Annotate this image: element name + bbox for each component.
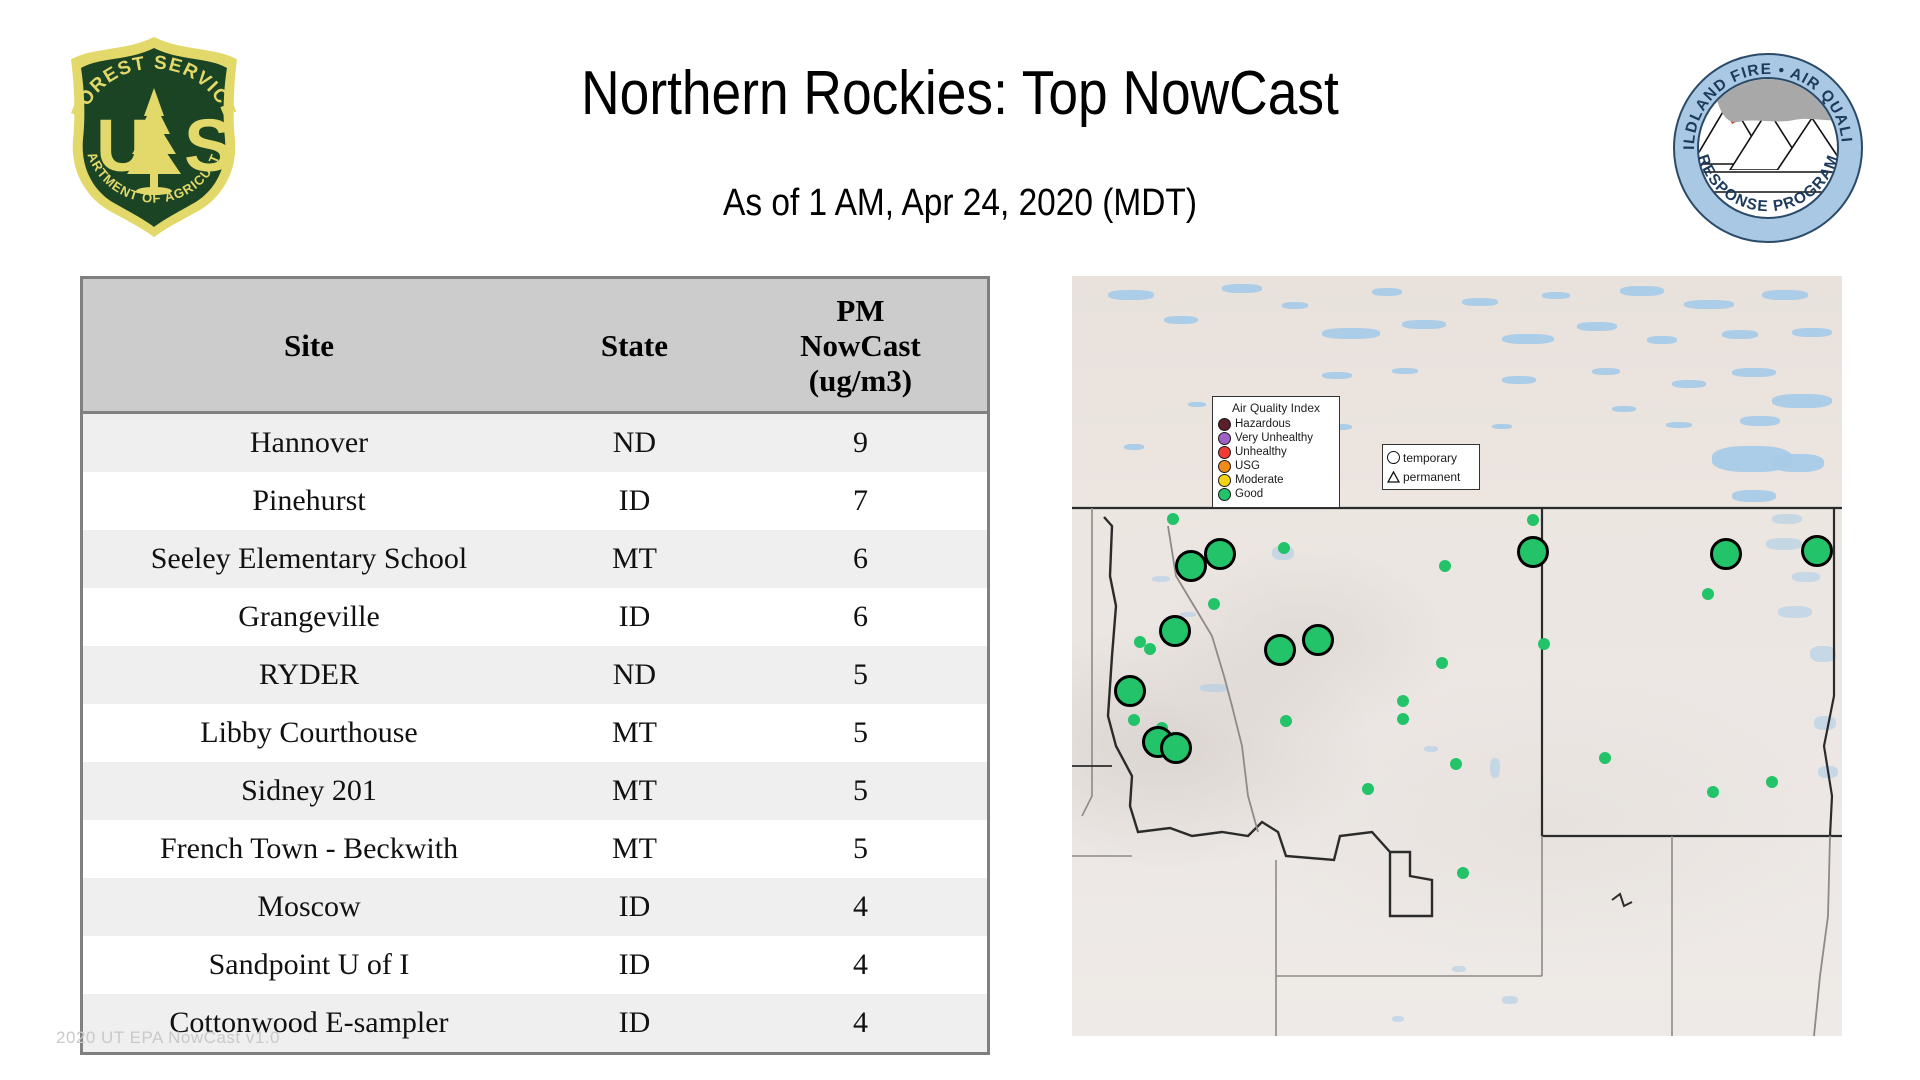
- air-quality-monitor-map[interactable]: [1072, 276, 1842, 1036]
- aqi-legend-label: Good: [1235, 488, 1263, 501]
- map-sensor-marker[interactable]: [1801, 535, 1833, 567]
- cell-site: Moscow: [83, 878, 535, 936]
- map-sensor-marker[interactable]: [1128, 714, 1140, 726]
- map-sensor-marker[interactable]: [1280, 715, 1292, 727]
- cell-state: MT: [535, 820, 734, 878]
- map-sensor-marker[interactable]: [1302, 624, 1334, 656]
- cell-site: RYDER: [83, 646, 535, 704]
- cell-pm: 4: [734, 878, 987, 936]
- table-row[interactable]: Seeley Elementary SchoolMT6: [83, 530, 987, 588]
- map-sensor-marker[interactable]: [1167, 513, 1179, 525]
- site-type-temporary: temporary: [1387, 448, 1475, 467]
- aqi-color-swatch-icon: [1218, 446, 1231, 459]
- table-row[interactable]: Libby CourthouseMT5: [83, 704, 987, 762]
- map-sensor-marker[interactable]: [1707, 786, 1719, 798]
- aqi-legend-label: Hazardous: [1235, 418, 1291, 431]
- aqi-legend-row: Unhealthy: [1218, 445, 1334, 459]
- cell-site: Libby Courthouse: [83, 704, 535, 762]
- air-quality-index-legend: Air Quality Index HazardousVery Unhealth…: [1212, 396, 1340, 508]
- cell-pm: 5: [734, 704, 987, 762]
- cell-state: ID: [535, 472, 734, 530]
- aqi-legend-label: Very Unhealthy: [1235, 432, 1313, 445]
- page-subtitle: As of 1 AM, Apr 24, 2020 (MDT): [379, 180, 1541, 226]
- circle-icon: [1387, 451, 1400, 464]
- column-header-state[interactable]: State: [535, 279, 734, 413]
- table-row[interactable]: MoscowID4: [83, 878, 987, 936]
- map-sensor-marker[interactable]: [1160, 732, 1192, 764]
- aqi-color-swatch-icon: [1218, 432, 1231, 445]
- slide-header: FOREST SERVICE U S DEPARTMENT OF AGRICUL…: [0, 0, 1920, 262]
- map-sensor-marker[interactable]: [1114, 675, 1146, 707]
- cell-site: Grangeville: [83, 588, 535, 646]
- aqi-color-swatch-icon: [1218, 418, 1231, 431]
- cell-state: ID: [535, 936, 734, 994]
- map-sensor-marker[interactable]: [1397, 713, 1409, 725]
- aqi-legend-title: Air Quality Index: [1218, 401, 1334, 415]
- map-sensor-marker[interactable]: [1710, 538, 1742, 570]
- site-type-legend: temporary permanent: [1382, 444, 1480, 490]
- us-forest-service-shield-logo: FOREST SERVICE U S DEPARTMENT OF AGRICUL…: [48, 30, 260, 242]
- map-boundaries: [1072, 276, 1842, 1036]
- table-row[interactable]: PinehurstID7: [83, 472, 987, 530]
- site-type-temporary-label: temporary: [1403, 451, 1457, 465]
- cell-site: Hannover: [83, 413, 535, 473]
- cell-pm: 4: [734, 994, 987, 1052]
- map-sensor-marker[interactable]: [1439, 560, 1451, 572]
- cell-pm: 5: [734, 646, 987, 704]
- pm-header-line-3: (ug/m3): [809, 363, 912, 398]
- cell-state: ND: [535, 646, 734, 704]
- aqi-legend-label: Moderate: [1235, 474, 1284, 487]
- map-sensor-marker[interactable]: [1204, 538, 1236, 570]
- map-sensor-marker[interactable]: [1517, 536, 1549, 568]
- cell-state: MT: [535, 704, 734, 762]
- table-row[interactable]: Sidney 201MT5: [83, 762, 987, 820]
- cell-state: MT: [535, 530, 734, 588]
- wildland-fire-air-quality-logo: WILDLAND FIRE • AIR QUALITY RESPONSE PRO…: [1672, 52, 1864, 244]
- cell-state: MT: [535, 762, 734, 820]
- aqi-legend-row: Hazardous: [1218, 417, 1334, 431]
- map-sensor-marker[interactable]: [1264, 634, 1296, 666]
- map-sensor-marker[interactable]: [1766, 776, 1778, 788]
- cell-state: ID: [535, 878, 734, 936]
- map-sensor-marker[interactable]: [1397, 695, 1409, 707]
- pm-header-line-1: PM: [836, 293, 884, 328]
- top-nowcast-table-container: Site State PM NowCast (ug/m3) HannoverND…: [80, 276, 990, 1055]
- map-sensor-marker[interactable]: [1450, 758, 1462, 770]
- aqi-legend-row: USG: [1218, 459, 1334, 473]
- map-sensor-marker[interactable]: [1362, 783, 1374, 795]
- cell-pm: 4: [734, 936, 987, 994]
- aqi-color-swatch-icon: [1218, 460, 1231, 473]
- map-sensor-marker[interactable]: [1278, 542, 1290, 554]
- table-body: HannoverND9PinehurstID7Seeley Elementary…: [83, 413, 987, 1053]
- aqi-color-swatch-icon: [1218, 474, 1231, 487]
- cell-site: Pinehurst: [83, 472, 535, 530]
- site-type-permanent-label: permanent: [1403, 470, 1460, 484]
- aqi-legend-row: Good: [1218, 487, 1334, 501]
- table-row[interactable]: HannoverND9: [83, 413, 987, 473]
- cell-pm: 7: [734, 472, 987, 530]
- cell-site: Seeley Elementary School: [83, 530, 535, 588]
- site-type-permanent: permanent: [1387, 467, 1475, 486]
- table-row[interactable]: RYDERND5: [83, 646, 987, 704]
- map-sensor-marker[interactable]: [1457, 867, 1469, 879]
- cell-site: French Town - Beckwith: [83, 820, 535, 878]
- column-header-pm-nowcast[interactable]: PM NowCast (ug/m3): [734, 279, 987, 413]
- map-sensor-marker[interactable]: [1175, 550, 1207, 582]
- cell-site: Sidney 201: [83, 762, 535, 820]
- table-header-row: Site State PM NowCast (ug/m3): [83, 279, 987, 413]
- cell-pm: 9: [734, 413, 987, 473]
- aqi-legend-label: USG: [1235, 460, 1260, 473]
- slide-watermark: 2020 UT EPA NowCast v1.0: [56, 1028, 280, 1048]
- map-sensor-marker[interactable]: [1208, 598, 1220, 610]
- pm-header-line-2: NowCast: [800, 328, 921, 363]
- aqi-legend-row: Moderate: [1218, 473, 1334, 487]
- map-sensor-marker[interactable]: [1436, 657, 1448, 669]
- column-header-site[interactable]: Site: [83, 279, 535, 413]
- table-row[interactable]: French Town - BeckwithMT5: [83, 820, 987, 878]
- cell-state: ID: [535, 588, 734, 646]
- aqi-legend-label: Unhealthy: [1235, 446, 1287, 459]
- cell-site: Sandpoint U of I: [83, 936, 535, 994]
- triangle-icon: [1387, 471, 1400, 483]
- table-row[interactable]: Sandpoint U of IID4: [83, 936, 987, 994]
- map-sensor-marker[interactable]: [1144, 643, 1156, 655]
- aqi-legend-row: Very Unhealthy: [1218, 431, 1334, 445]
- cell-state: ID: [535, 994, 734, 1052]
- cell-pm: 5: [734, 820, 987, 878]
- top-nowcast-table: Site State PM NowCast (ug/m3) HannoverND…: [83, 279, 987, 1052]
- map-sensor-marker[interactable]: [1538, 638, 1550, 650]
- map-sensor-marker[interactable]: [1702, 588, 1714, 600]
- aqi-color-swatch-icon: [1218, 488, 1231, 501]
- page-title: Northern Rockies: Top NowCast: [392, 58, 1527, 130]
- cell-pm: 6: [734, 588, 987, 646]
- cell-pm: 5: [734, 762, 987, 820]
- map-sensor-marker[interactable]: [1527, 514, 1539, 526]
- aqi-legend-items: HazardousVery UnhealthyUnhealthyUSGModer…: [1218, 417, 1334, 501]
- cell-pm: 6: [734, 530, 987, 588]
- table-row[interactable]: GrangevilleID6: [83, 588, 987, 646]
- cell-state: ND: [535, 413, 734, 473]
- map-sensor-marker[interactable]: [1159, 615, 1191, 647]
- map-sensor-marker[interactable]: [1599, 752, 1611, 764]
